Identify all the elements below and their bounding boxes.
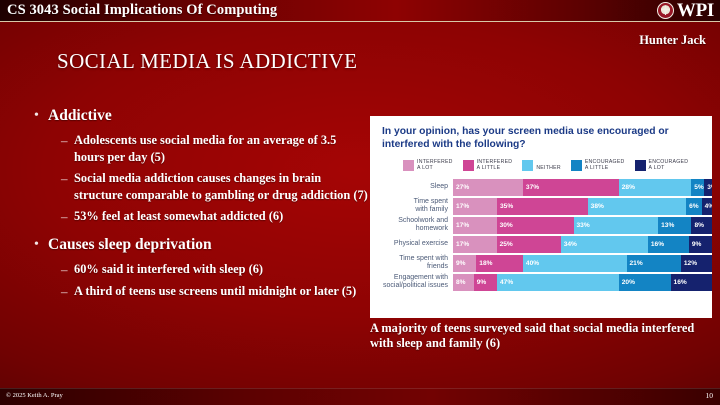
spacer: [34, 225, 369, 234]
chart-bar-segment: 37%: [523, 179, 619, 196]
bullet-list: • Addictive – Adolescents use social med…: [34, 105, 369, 300]
chart-bar-segment: 25%: [497, 236, 561, 253]
chart-bar-segment: 8%: [453, 274, 474, 291]
bullet-level2-label: A third of teens use screens until midni…: [74, 283, 356, 300]
chart-bar-segment: 5%: [691, 179, 704, 196]
chart-bar-segment: 40%: [523, 255, 627, 272]
chart-bar: 9%18%40%21%12%: [453, 255, 712, 272]
chart-legend: INTERFERED A LOTINTERFERED A LITTLE NEIT…: [403, 159, 712, 172]
chart-bar: 8%9%47%20%16%: [453, 274, 712, 291]
chart-row-label: Physical exercise: [370, 236, 453, 253]
dash-icon: –: [61, 283, 74, 300]
chart-bar-segment: 9%: [474, 274, 497, 291]
bullet-level2-label: 60% said it interfered with sleep (6): [74, 261, 263, 278]
chart-bar-segment: 13%: [658, 217, 691, 234]
chart-bar-segment: 4%: [702, 198, 712, 215]
chart-row: Schoolwork and homework17%30%33%13%8%: [370, 217, 712, 234]
chart-bar-segment: 12%: [681, 255, 712, 272]
chart-bar-segment: 28%: [619, 179, 692, 196]
legend-label: INTERFERED A LITTLE: [477, 159, 513, 172]
bullet-level2-label: Adolescents use social media for an aver…: [74, 132, 369, 165]
chart-bar-segment: 30%: [497, 217, 574, 234]
dash-icon: –: [61, 261, 74, 278]
chart-row: Time spent with family17%35%38%6%4%: [370, 198, 712, 215]
legend-item: INTERFERED A LITTLE: [463, 159, 513, 172]
chart-bar: 17%35%38%6%4%: [453, 198, 712, 215]
chart-row: Physical exercise17%25%34%16%9%: [370, 236, 712, 253]
course-title: CS 3043 Social Implications Of Computing: [7, 2, 277, 19]
chart-bar-segment: 6%: [686, 198, 702, 215]
slide-header-band: CS 3043 Social Implications Of Computing…: [0, 0, 720, 22]
legend-swatch-icon: [635, 160, 646, 171]
legend-label: INTERFERED A LOT: [417, 159, 453, 172]
chart-bar-segment: 17%: [453, 217, 497, 234]
wpi-logo-text: WPI: [677, 1, 714, 20]
dash-icon: –: [61, 132, 74, 149]
wpi-logo: WPI: [657, 1, 714, 20]
chart-bar-segment: 21%: [627, 255, 681, 272]
chart-bar-segment: 16%: [671, 274, 712, 291]
chart-row-label: Schoolwork and homework: [370, 217, 453, 234]
chart-row: Sleep27%37%28%5%3%: [370, 179, 712, 196]
bullet-level2: – Adolescents use social media for an av…: [61, 132, 369, 165]
chart-bar-segment: 20%: [619, 274, 671, 291]
legend-swatch-icon: [522, 160, 533, 171]
bullet-level1: • Addictive: [34, 105, 369, 127]
chart-row-label: Sleep: [370, 179, 453, 196]
chart-bar-segment: 38%: [588, 198, 686, 215]
chart-title: In your opinion, has your screen media u…: [382, 125, 700, 151]
bullet-level1-label: Causes sleep deprivation: [48, 234, 212, 256]
legend-item: ENCOURAGED A LOT: [635, 159, 689, 172]
legend-label: ENCOURAGED A LITTLE: [585, 159, 625, 172]
legend-swatch-icon: [571, 160, 582, 171]
bullet-dot-icon: •: [34, 234, 48, 256]
bullet-level1: • Causes sleep deprivation: [34, 234, 369, 256]
chart-bar-segment: 47%: [497, 274, 619, 291]
bullet-level2-label: Social media addiction causes changes in…: [74, 170, 369, 203]
chart-row-label: Time spent with friends: [370, 255, 453, 272]
slide-footer-band: © 2025 Keith A. Pray 10: [0, 388, 720, 405]
chart-bar-segment: 18%: [476, 255, 523, 272]
bullet-level2: – 60% said it interfered with sleep (6): [61, 261, 369, 278]
legend-label: NEITHER: [536, 159, 561, 172]
chart-row: Engagement with social/political issues8…: [370, 274, 712, 291]
bullet-level2: – A third of teens use screens until mid…: [61, 283, 369, 300]
chart-bar-segment: 27%: [453, 179, 523, 196]
bullet-level2: – Social media addiction causes changes …: [61, 170, 369, 203]
chart-bar-segment: 34%: [561, 236, 648, 253]
chart-bar-segment: 16%: [648, 236, 689, 253]
chart-caption: A majority of teens surveyed said that s…: [370, 321, 712, 351]
legend-item: NEITHER: [522, 159, 561, 172]
chart-row-label: Time spent with family: [370, 198, 453, 215]
page-number: 10: [706, 391, 714, 400]
chart-panel: In your opinion, has your screen media u…: [370, 116, 712, 318]
wpi-seal-icon: [657, 2, 674, 19]
chart-bars: Sleep27%37%28%5%3%Time spent with family…: [370, 179, 712, 291]
chart-bar: 27%37%28%5%3%: [453, 179, 712, 196]
legend-item: INTERFERED A LOT: [403, 159, 453, 172]
chart-bar-segment: 33%: [574, 217, 659, 234]
slide: CS 3043 Social Implications Of Computing…: [0, 0, 720, 405]
chart-row: Time spent with friends9%18%40%21%12%: [370, 255, 712, 272]
bullet-level2: – 53% feel at least somewhat addicted (6…: [61, 208, 369, 225]
legend-label: ENCOURAGED A LOT: [649, 159, 689, 172]
legend-item: ENCOURAGED A LITTLE: [571, 159, 625, 172]
author-name: Hunter Jack: [639, 33, 706, 48]
chart-bar: 17%25%34%16%9%: [453, 236, 712, 253]
chart-bar-segment: 17%: [453, 198, 497, 215]
chart-bar-segment: 35%: [497, 198, 588, 215]
copyright-text: © 2025 Keith A. Pray: [6, 392, 63, 399]
chart-bar-segment: 9%: [453, 255, 476, 272]
page-title: SOCIAL MEDIA IS ADDICTIVE: [57, 49, 357, 74]
legend-swatch-icon: [463, 160, 474, 171]
dash-icon: –: [61, 170, 74, 187]
bullet-level2-label: 53% feel at least somewhat addicted (6): [74, 208, 283, 225]
chart-bar-segment: 8%: [691, 217, 712, 234]
chart-bar-segment: 17%: [453, 236, 497, 253]
bullet-dot-icon: •: [34, 105, 48, 127]
chart-bar-segment: 9%: [689, 236, 712, 253]
bullet-level1-label: Addictive: [48, 105, 112, 127]
chart-bar: 17%30%33%13%8%: [453, 217, 712, 234]
chart-bar-segment: 3%: [704, 179, 712, 196]
dash-icon: –: [61, 208, 74, 225]
legend-swatch-icon: [403, 160, 414, 171]
chart-row-label: Engagement with social/political issues: [370, 274, 453, 291]
